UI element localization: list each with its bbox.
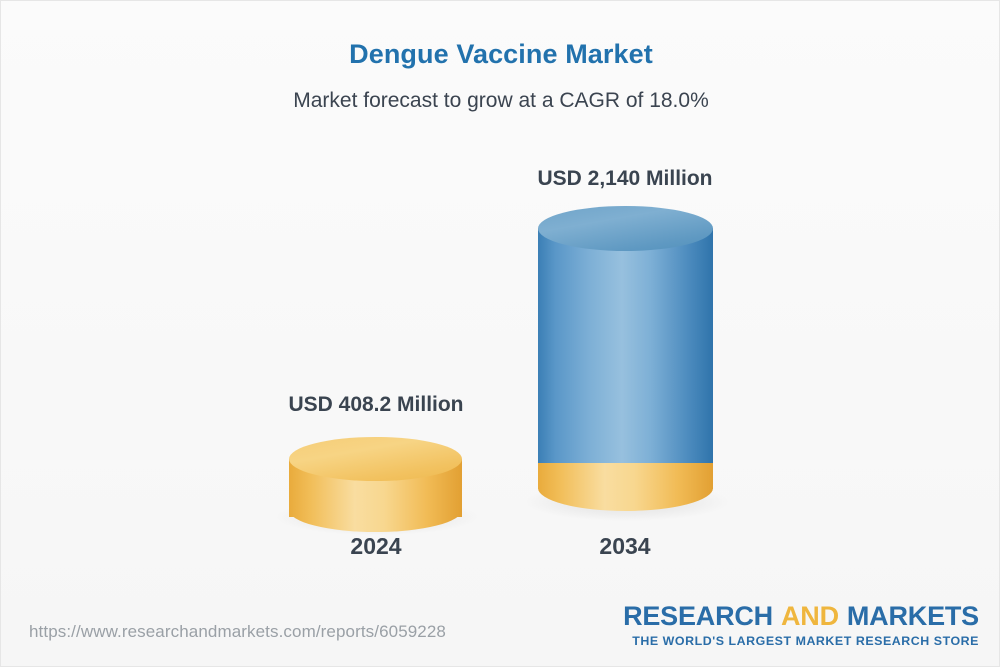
value-label-2034: USD 2,140 Million (485, 167, 765, 191)
bar-cylinder-2024 (289, 437, 462, 527)
axis-label-2024: 2024 (236, 533, 516, 560)
bar-cylinder-2034 (538, 206, 713, 511)
cylinder-bottom-2024 (289, 488, 462, 532)
brand-word-research: RESEARCH (623, 601, 773, 631)
cylinder-top-2024 (289, 437, 462, 481)
page-title: Dengue Vaccine Market (1, 39, 1000, 70)
brand-word-and: AND (781, 601, 839, 631)
brand-word-markets: MARKETS (847, 601, 979, 631)
cylinder-body-yellow-2034 (538, 463, 713, 489)
brand-tagline: THE WORLD'S LARGEST MARKET RESEARCH STOR… (623, 635, 979, 647)
axis-label-2034: 2034 (485, 533, 765, 560)
value-label-2024: USD 408.2 Million (236, 393, 516, 417)
brand-logo-wordmark: RESEARCHANDMARKETS (623, 603, 979, 630)
cylinder-top-2034 (538, 206, 713, 251)
cylinder-body-blue-2034 (538, 228, 713, 463)
report-url[interactable]: https://www.researchandmarkets.com/repor… (29, 622, 446, 642)
chart-canvas: Dengue Vaccine Market Market forecast to… (0, 0, 1000, 667)
brand-logo: RESEARCHANDMARKETS THE WORLD'S LARGEST M… (623, 603, 979, 647)
chart-subtitle: Market forecast to grow at a CAGR of 18.… (1, 89, 1000, 113)
